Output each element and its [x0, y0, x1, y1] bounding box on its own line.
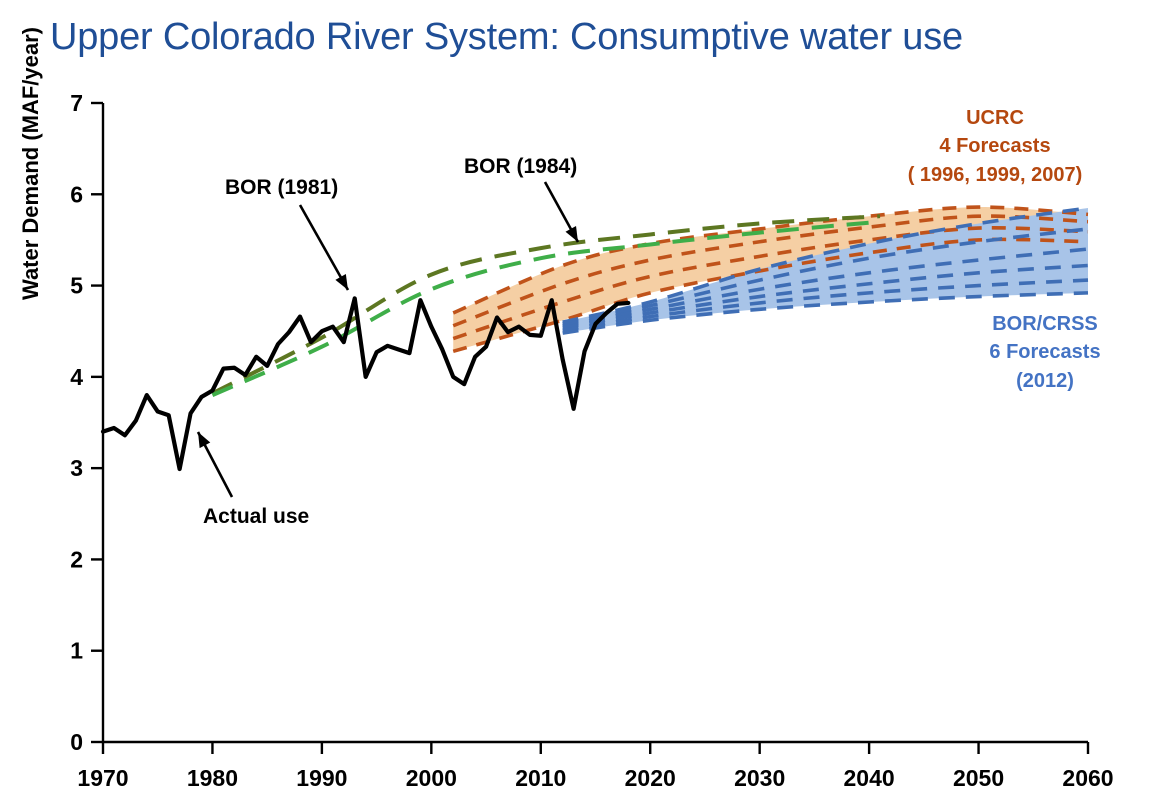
bor-1984-arrow-head: [566, 226, 578, 242]
legend-ucrc-line2: 4 Forecasts: [900, 132, 1090, 160]
y-tick-label-3: 3: [70, 455, 83, 481]
annotation-bor-1981: BOR (1981): [225, 176, 338, 200]
x-tick-label-1990: 1990: [296, 765, 347, 791]
legend-crss-line3: (2012): [960, 367, 1130, 395]
x-tick-label-2030: 2030: [734, 765, 785, 791]
y-tick-label-7: 7: [70, 90, 83, 116]
y-tick-label-4: 4: [70, 364, 83, 390]
x-tick-label-2050: 2050: [953, 765, 1004, 791]
x-tick-label-2040: 2040: [844, 765, 895, 791]
y-tick-label-0: 0: [70, 729, 83, 755]
legend-ucrc-line3: ( 1996, 1999, 2007): [900, 161, 1090, 189]
y-axis-label: Water Demand (MAF/year): [18, 27, 44, 300]
x-tick-label-2000: 2000: [406, 765, 457, 791]
x-tick-label-1980: 1980: [187, 765, 238, 791]
actual-use-arrow-head: [198, 432, 210, 448]
annotation-bor-1984: BOR (1984): [464, 155, 577, 179]
y-tick-label-6: 6: [70, 181, 83, 207]
chart-container: Upper Colorado River System: Consumptive…: [0, 0, 1152, 798]
bor-1981-arrow-head: [335, 274, 348, 290]
y-tick-label-1: 1: [70, 638, 83, 664]
legend-crss-line2: 6 Forecasts: [960, 338, 1130, 366]
x-tick-label-2060: 2060: [1062, 765, 1113, 791]
y-tick-label-5: 5: [70, 273, 83, 299]
x-tick-label-1970: 1970: [77, 765, 128, 791]
annotation-arrows-layer: [198, 182, 578, 497]
annotation-actual-use: Actual use: [203, 505, 309, 529]
legend-crss-line1: BOR/CRSS: [960, 310, 1130, 338]
legend-ucrc: UCRC 4 Forecasts ( 1996, 1999, 2007): [900, 104, 1090, 189]
y-tick-label-2: 2: [70, 546, 83, 572]
legend-ucrc-line1: UCRC: [900, 104, 1090, 132]
x-tick-label-2020: 2020: [625, 765, 676, 791]
x-tick-label-2010: 2010: [515, 765, 566, 791]
legend-bor-crss: BOR/CRSS 6 Forecasts (2012): [960, 310, 1130, 395]
